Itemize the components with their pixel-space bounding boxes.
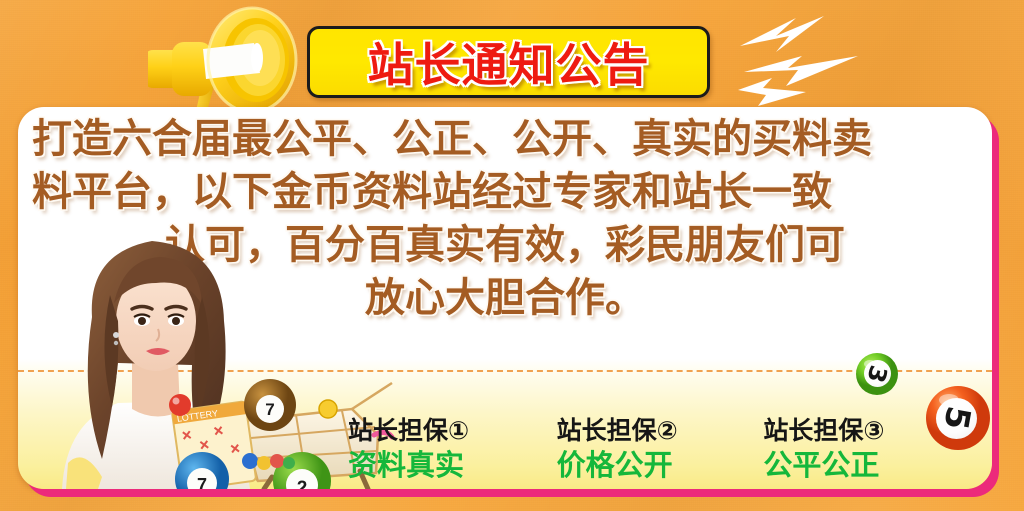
guarantee-badge-row: 站长担保① 资料真实 站长担保② 价格公开 站长担保③ 公平公正: [348, 415, 908, 483]
guarantee-badge-3: 站长担保③ 公平公正: [721, 415, 908, 483]
announcement-card: 打造六合届最公平、公正、公开、真实的买料卖 料平台，以下金币资料站经过专家和站长…: [18, 107, 992, 489]
body-line-2: 料平台，以下金币资料站经过专家和站长一致: [32, 166, 978, 219]
body-line-1: 打造六合届最公平、公正、公开、真实的买料卖: [32, 113, 978, 166]
lottery-ball-orange: 5: [925, 385, 991, 451]
guarantee-badge-2: 站长担保② 价格公开: [535, 415, 722, 483]
guarantee-badge-1-title: 站长担保①: [348, 415, 535, 447]
lottery-ball-orange-number: 5: [920, 380, 996, 456]
svg-text:2: 2: [297, 478, 308, 489]
guarantee-badge-3-title: 站长担保③: [721, 415, 908, 447]
svg-text:7: 7: [265, 400, 274, 419]
announcement-title-plate: 站长通知公告: [307, 26, 710, 98]
page-title: 站长通知公告: [368, 29, 650, 95]
announcement-banner: 站长通知公告 打造六合届最公平、公正、公开、真实的买料卖 料平台，以下金币资料站…: [0, 0, 1024, 511]
guarantee-badge-2-title: 站长担保②: [535, 415, 722, 447]
lottery-ball-green: 3: [855, 352, 899, 396]
guarantee-badge-2-sub: 价格公开: [535, 447, 722, 483]
svg-text:7: 7: [197, 475, 207, 489]
guarantee-badge-3-sub: 公平公正: [721, 447, 908, 483]
lightning-bolt-icon: [732, 12, 858, 116]
guarantee-badge-1-sub: 资料真实: [348, 447, 535, 483]
lottery-ball-green-number: 3: [850, 347, 904, 401]
megaphone-icon: [148, 2, 328, 124]
guarantee-badge-1: 站长担保① 资料真实: [348, 415, 535, 483]
